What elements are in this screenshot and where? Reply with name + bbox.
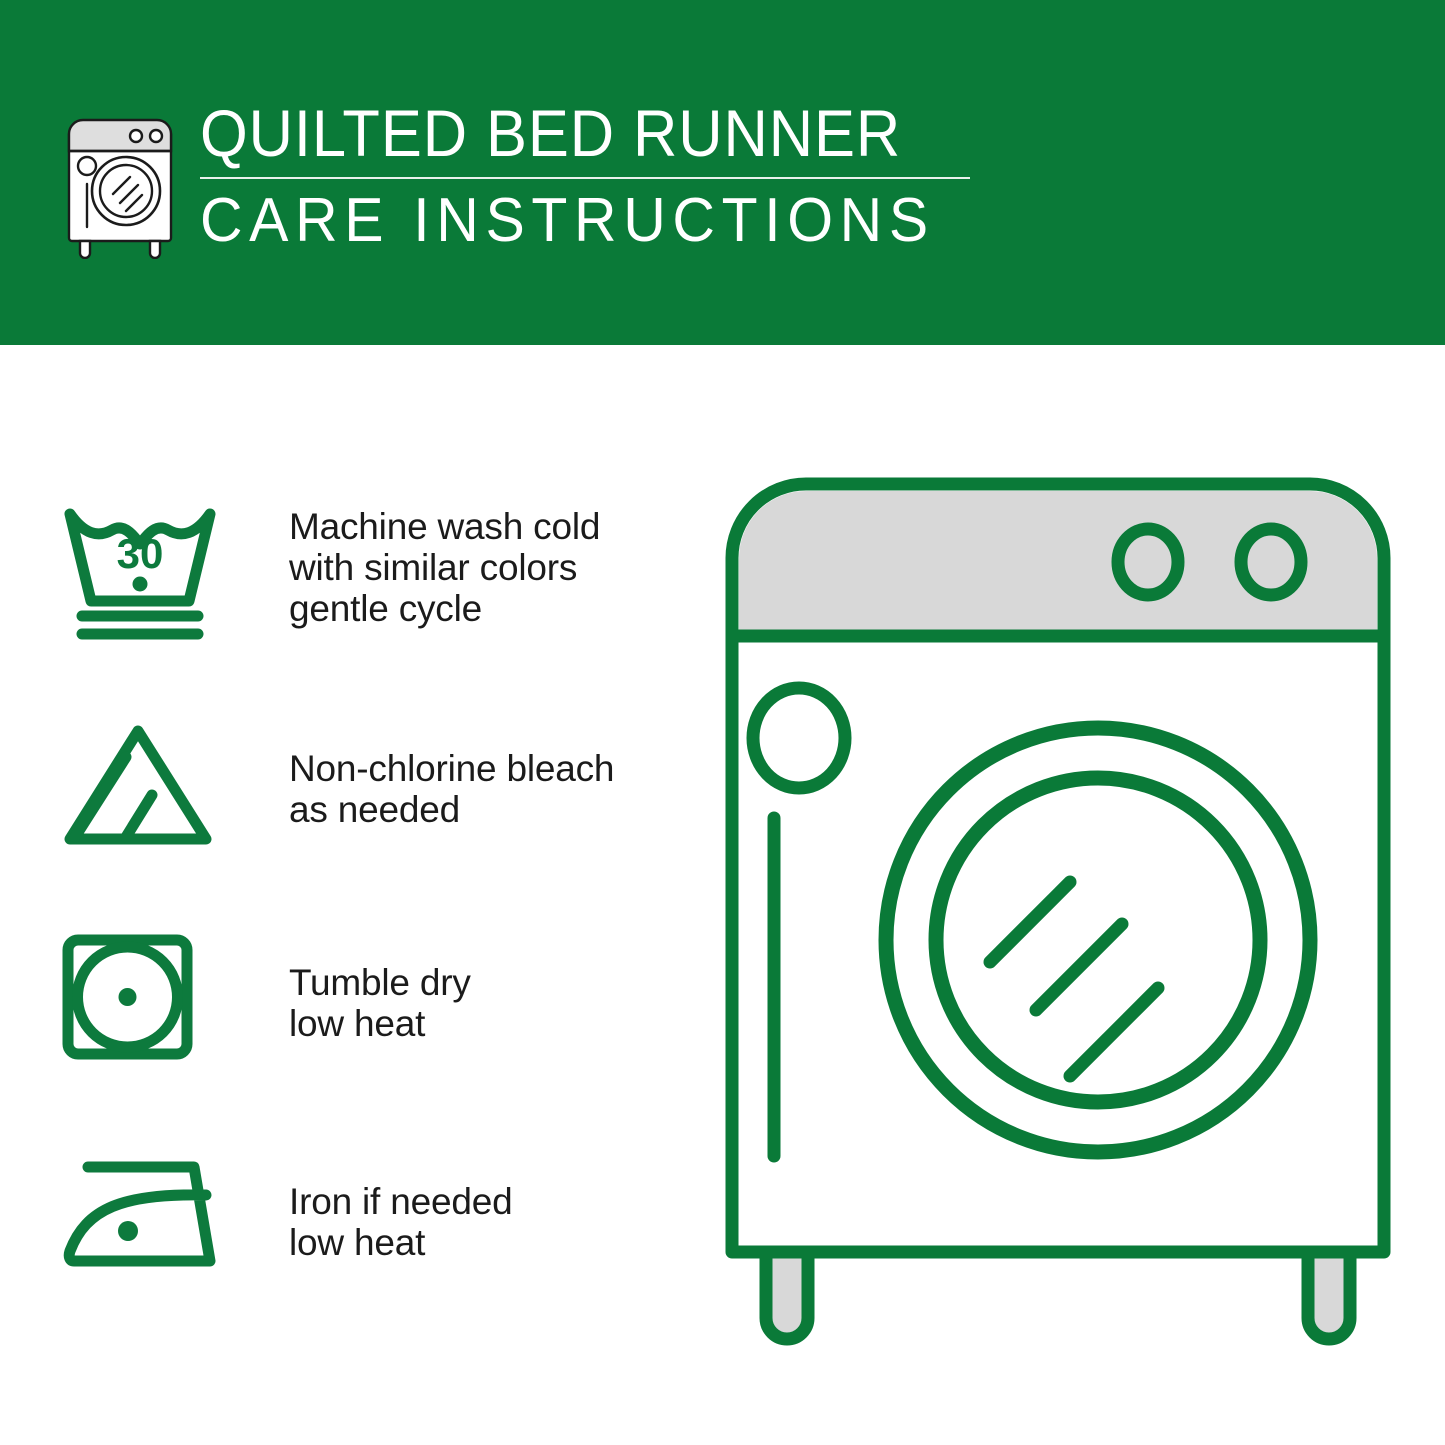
list-item-label: Iron if needed low heat xyxy=(235,1133,660,1263)
care-instruction-list: 30 Machine wash cold with similar colors… xyxy=(60,488,660,1348)
list-item: Non-chlorine bleach as needed xyxy=(60,703,660,918)
wash-tub-30-gentle-icon: 30 xyxy=(60,488,235,660)
washer-knob xyxy=(1118,529,1178,595)
list-item-label: Tumble dry low heat xyxy=(235,918,660,1044)
label-line: Machine wash cold xyxy=(289,506,660,547)
list-item: 30 Machine wash cold with similar colors… xyxy=(60,488,660,703)
label-line: Non-chlorine bleach xyxy=(289,748,660,789)
list-item-label: Machine wash cold with similar colors ge… xyxy=(235,488,660,629)
label-line: gentle cycle xyxy=(289,588,660,629)
label-line: Iron if needed xyxy=(289,1181,660,1222)
page-subtitle: CARE INSTRUCTIONS xyxy=(200,187,960,255)
header-content: QUILTED BED RUNNER CARE INSTRUCTIONS xyxy=(60,95,1000,270)
label-line: as needed xyxy=(289,789,660,830)
header-titles: QUILTED BED RUNNER CARE INSTRUCTIONS xyxy=(200,95,1000,255)
list-item: Iron if needed low heat xyxy=(60,1133,660,1348)
list-item-label: Non-chlorine bleach as needed xyxy=(235,703,660,830)
label-line: with similar colors xyxy=(289,547,660,588)
label-line: low heat xyxy=(289,1222,660,1263)
title-divider xyxy=(200,177,970,179)
label-line: low heat xyxy=(289,1003,660,1044)
iron-low-heat-icon xyxy=(60,1133,235,1317)
list-item: Tumble dry low heat xyxy=(60,918,660,1133)
header-banner: QUILTED BED RUNNER CARE INSTRUCTIONS xyxy=(0,0,1445,345)
washing-machine-icon xyxy=(60,99,180,259)
tumble-dry-low-heat-icon xyxy=(60,918,235,1092)
page-title: QUILTED BED RUNNER xyxy=(200,97,944,169)
wash-temperature-label: 30 xyxy=(117,530,164,577)
label-line: Tumble dry xyxy=(289,962,660,1003)
detergent-cap-icon xyxy=(753,688,845,788)
bleach-triangle-non-chlorine-icon xyxy=(60,703,235,881)
front-load-washing-machine-illustration xyxy=(718,470,1398,1370)
care-instructions-infographic: QUILTED BED RUNNER CARE INSTRUCTIONS 30 xyxy=(0,0,1445,1445)
washer-knob xyxy=(1241,529,1301,595)
